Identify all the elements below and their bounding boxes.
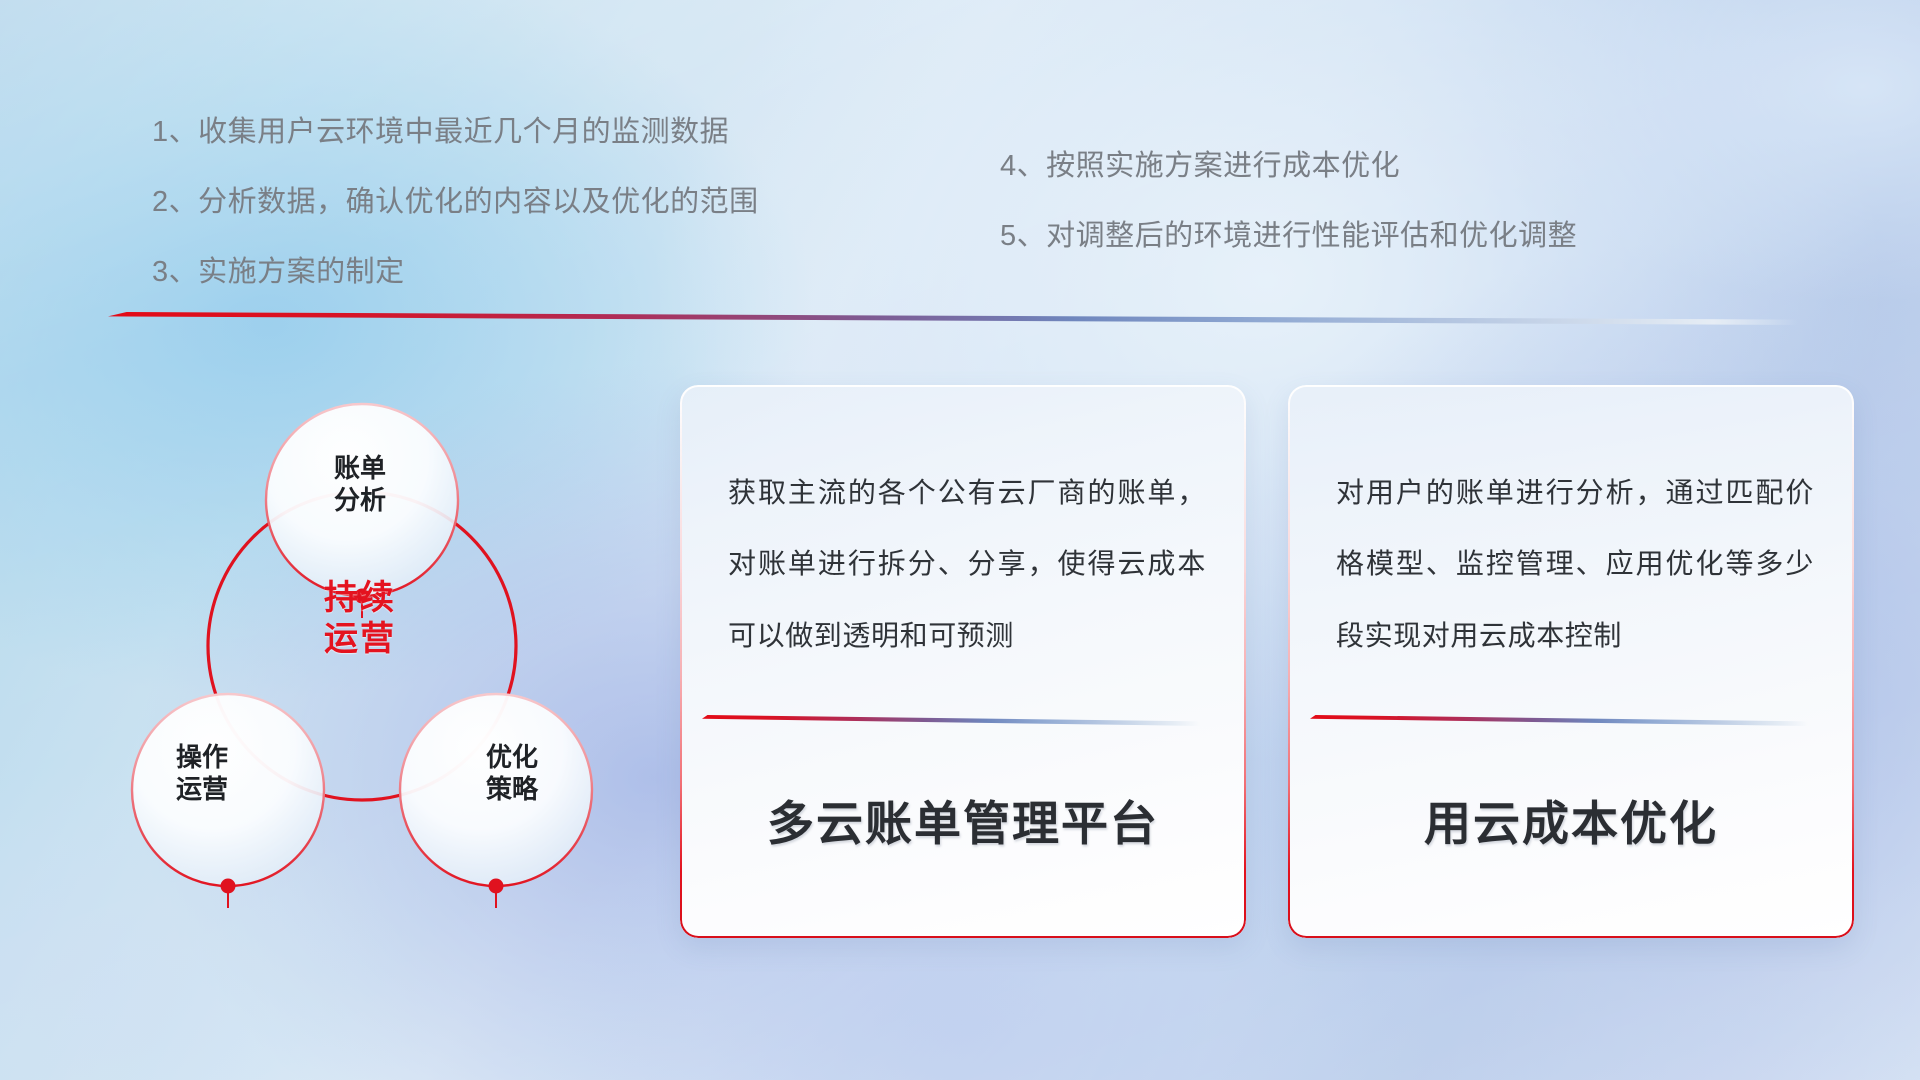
connector-node-operations	[221, 879, 236, 894]
lobe-label-strategy-line2: 策略	[432, 774, 592, 806]
lobe-label-strategy-line1: 优化	[432, 742, 592, 774]
lobe-label-optimization-strategy: 优化 策略	[432, 742, 592, 805]
info-card-cloud-cost-optimization[interactable]: 对用户的账单进行分析，通过匹配价格模型、监控管理、应用优化等多少段实现对用云成本…	[1288, 385, 1854, 938]
card-divider-gradient-bar	[1310, 715, 1808, 726]
card-divider	[702, 715, 1200, 726]
steps-list-right: 4、按照实施方案进行成本优化 5、对调整后的环境进行性能评估和优化调整	[1000, 152, 1577, 251]
card-body-text: 对用户的账单进行分析，通过匹配价格模型、监控管理、应用优化等多少段实现对用云成本…	[1336, 457, 1814, 671]
diagram-center-line2: 运营	[260, 619, 460, 660]
steps-list-left: 1、收集用户云环境中最近几个月的监测数据 2、分析数据，确认优化的内容以及优化的…	[152, 118, 759, 287]
card-title: 多云账单管理平台	[680, 785, 1246, 854]
lobe-label-operations: 操作 运营	[122, 742, 282, 805]
lobe-label-billing-analysis: 账单 分析	[280, 453, 440, 516]
continuous-operations-diagram: 账单 分析 操作 运营 优化 策略 持续 运营	[100, 350, 620, 940]
step-item-3: 3、实施方案的制定	[152, 258, 759, 287]
card-body-text: 获取主流的各个公有云厂商的账单，对账单进行拆分、分享，使得云成本可以做到透明和可…	[728, 457, 1206, 671]
lobe-label-operations-line1: 操作	[122, 742, 282, 774]
lobe-label-operations-line2: 运营	[122, 774, 282, 806]
card-title: 用云成本优化	[1288, 785, 1854, 854]
step-item-4: 4、按照实施方案进行成本优化	[1000, 152, 1577, 181]
section-divider-gradient-bar	[108, 312, 1798, 325]
step-item-1: 1、收集用户云环境中最近几个月的监测数据	[152, 118, 759, 147]
card-divider	[1310, 715, 1808, 726]
card-divider-gradient-bar	[702, 715, 1200, 726]
diagram-center-line1: 持续	[260, 578, 460, 619]
connector-node-strategy	[489, 879, 504, 894]
step-item-2: 2、分析数据，确认优化的内容以及优化的范围	[152, 188, 759, 217]
step-item-5: 5、对调整后的环境进行性能评估和优化调整	[1000, 222, 1577, 251]
slide-canvas: 1、收集用户云环境中最近几个月的监测数据 2、分析数据，确认优化的内容以及优化的…	[0, 0, 1920, 1080]
lobe-label-billing-line1: 账单	[280, 453, 440, 485]
section-divider	[108, 312, 1798, 325]
info-card-multi-cloud-billing-platform[interactable]: 获取主流的各个公有云厂商的账单，对账单进行拆分、分享，使得云成本可以做到透明和可…	[680, 385, 1246, 938]
lobe-label-billing-line2: 分析	[280, 485, 440, 517]
diagram-center-label: 持续 运营	[260, 578, 460, 661]
